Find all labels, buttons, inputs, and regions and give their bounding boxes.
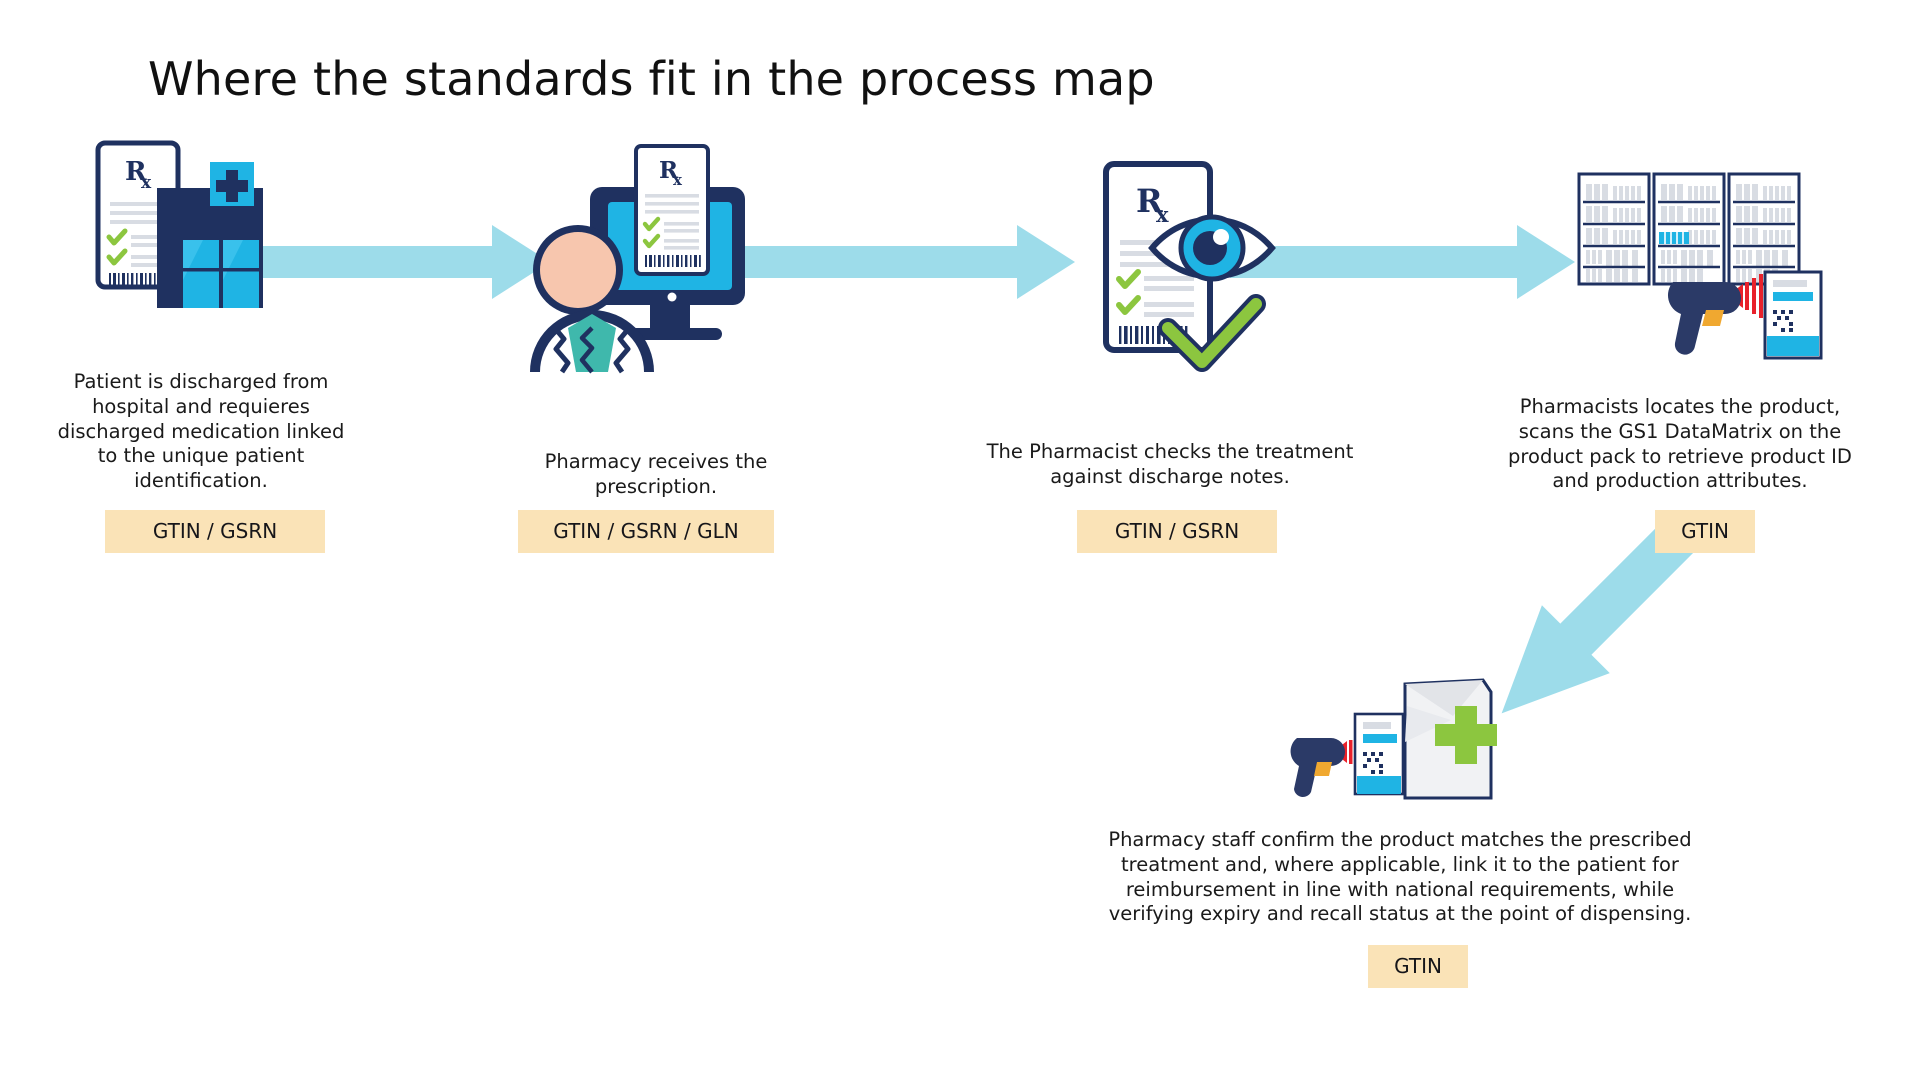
step-3-badge[interactable]: GTIN / GSRN <box>1077 510 1277 553</box>
process-map-canvas: Where the standards fit in the process m… <box>0 0 1920 1080</box>
pharmacy-shelves-scanner-icon <box>1575 170 1825 360</box>
step-1-caption: Patient is discharged from hospital and … <box>55 370 347 494</box>
svg-text:x: x <box>673 171 683 189</box>
scanner-medicine-bag-icon <box>1295 672 1505 802</box>
step-2-caption: Pharmacy receives the prescription. <box>510 450 802 500</box>
step-4-badge[interactable]: GTIN <box>1655 510 1755 553</box>
pharmacist-monitor-prescription-icon: R x <box>528 142 750 372</box>
prescription-eye-check-icon: R x <box>1092 160 1292 380</box>
step-2-badge[interactable]: GTIN / GSRN / GLN <box>518 510 774 553</box>
svg-text:x: x <box>141 173 152 193</box>
step-5-caption: Pharmacy staff confirm the product match… <box>1085 828 1715 927</box>
step-4-caption: Pharmacists locates the product, scans t… <box>1490 395 1870 494</box>
page-title: Where the standards fit in the process m… <box>148 52 1155 106</box>
prescription-hospital-icon: R x <box>95 140 310 320</box>
step-5-badge[interactable]: GTIN <box>1368 945 1468 988</box>
step-3-caption: The Pharmacist checks the treatment agai… <box>960 440 1380 490</box>
arrow-step2-to-step3 <box>735 225 1075 299</box>
svg-text:x: x <box>1156 202 1169 227</box>
step-1-badge[interactable]: GTIN / GSRN <box>105 510 325 553</box>
